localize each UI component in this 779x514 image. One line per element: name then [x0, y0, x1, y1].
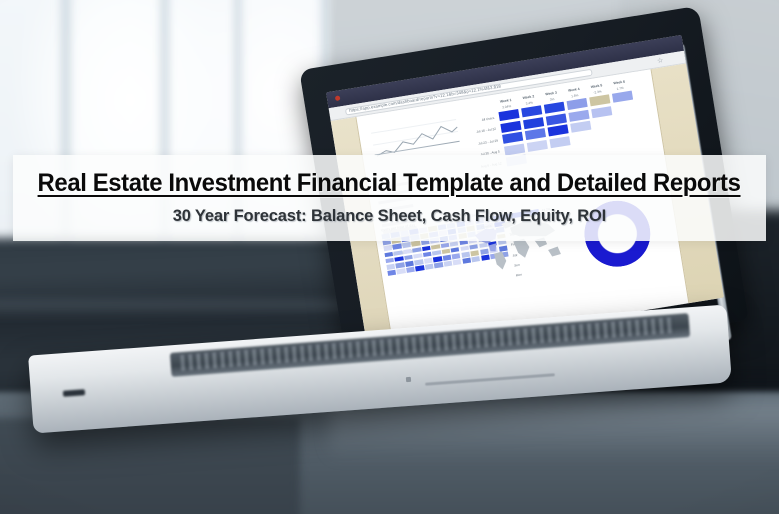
laptop-port — [406, 377, 411, 382]
heatmap-row-label: Jul 16 - Jul 22 — [470, 126, 498, 134]
page-subtitle: 30 Year Forecast: Balance Sheet, Cash Fl… — [173, 206, 606, 226]
page-title: Real Estate Investment Financial Templat… — [38, 170, 741, 196]
heatmap-row-label: Jul 23 - Jul 29 — [472, 138, 500, 146]
star-icon[interactable]: ☆ — [656, 56, 664, 66]
laptop: https://app.example.com/dashboard/report… — [0, 0, 779, 514]
heatmap-row-label: All Users — [468, 115, 496, 123]
close-icon[interactable] — [335, 95, 341, 101]
screenshot-stage: https://app.example.com/dashboard/report… — [0, 0, 779, 514]
title-banner: Real Estate Investment Financial Templat… — [13, 155, 766, 241]
